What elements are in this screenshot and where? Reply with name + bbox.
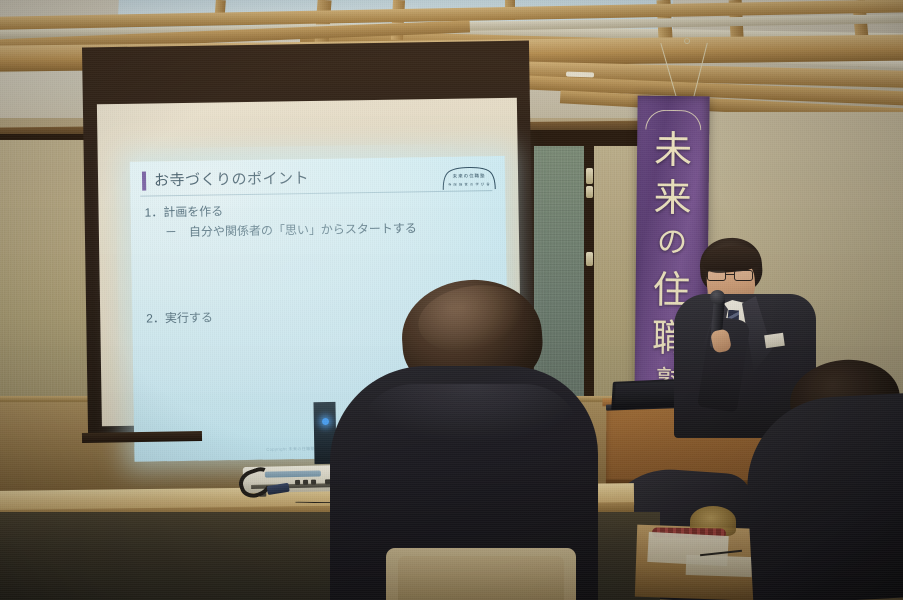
pocket-square: [764, 333, 785, 349]
projector-vent: [265, 470, 321, 477]
slide-logo-main: 未来の住職塾: [447, 173, 491, 180]
screen-bottom-bar: [82, 431, 202, 443]
status-led-icon: [322, 418, 329, 425]
projector-port: [303, 480, 308, 485]
banner-hook-icon: [684, 38, 690, 44]
banner-char: 来: [636, 180, 708, 219]
glasses-icon: [706, 270, 756, 281]
projector-port: [311, 480, 316, 485]
glasses-bridge: [726, 274, 734, 275]
slide-logo-sub: 寺 院 経 営 の 学 び 舎: [445, 181, 493, 187]
slide-bullet-2: － 自分や関係者の「思い」からスタートする: [165, 219, 417, 240]
microphone-head-icon: [710, 290, 725, 304]
projector-port: [295, 480, 300, 485]
panel-handle[interactable]: [586, 252, 593, 266]
panel-handle[interactable]: [586, 168, 593, 184]
seminar-room-photo: お寺づくりのポイント 1．計画を作る － 自分や関係者の「思い」からスタートする…: [0, 0, 903, 600]
cable-plug: [267, 483, 290, 495]
panel-handle[interactable]: [586, 186, 593, 198]
slide-title: お寺づくりのポイント: [154, 167, 309, 190]
glasses-left-lens: [707, 270, 726, 281]
attendee-shoulder-highlight: [356, 384, 582, 442]
slide-bullet-1: 1．計画を作る: [144, 202, 223, 220]
banner-arc-decoration: [645, 110, 701, 131]
slide-accent-bar: [142, 172, 146, 191]
paper-document: [686, 555, 753, 577]
chair-back-inner: [398, 556, 564, 600]
slide-bullet-3: 2．実行する: [146, 309, 213, 327]
slide-logo: 未来の住職塾 寺 院 経 営 の 学 び 舎: [440, 162, 498, 193]
banner-char: 未: [637, 132, 709, 171]
glasses-right-lens: [734, 270, 753, 281]
ceiling-fixture: [566, 72, 594, 78]
